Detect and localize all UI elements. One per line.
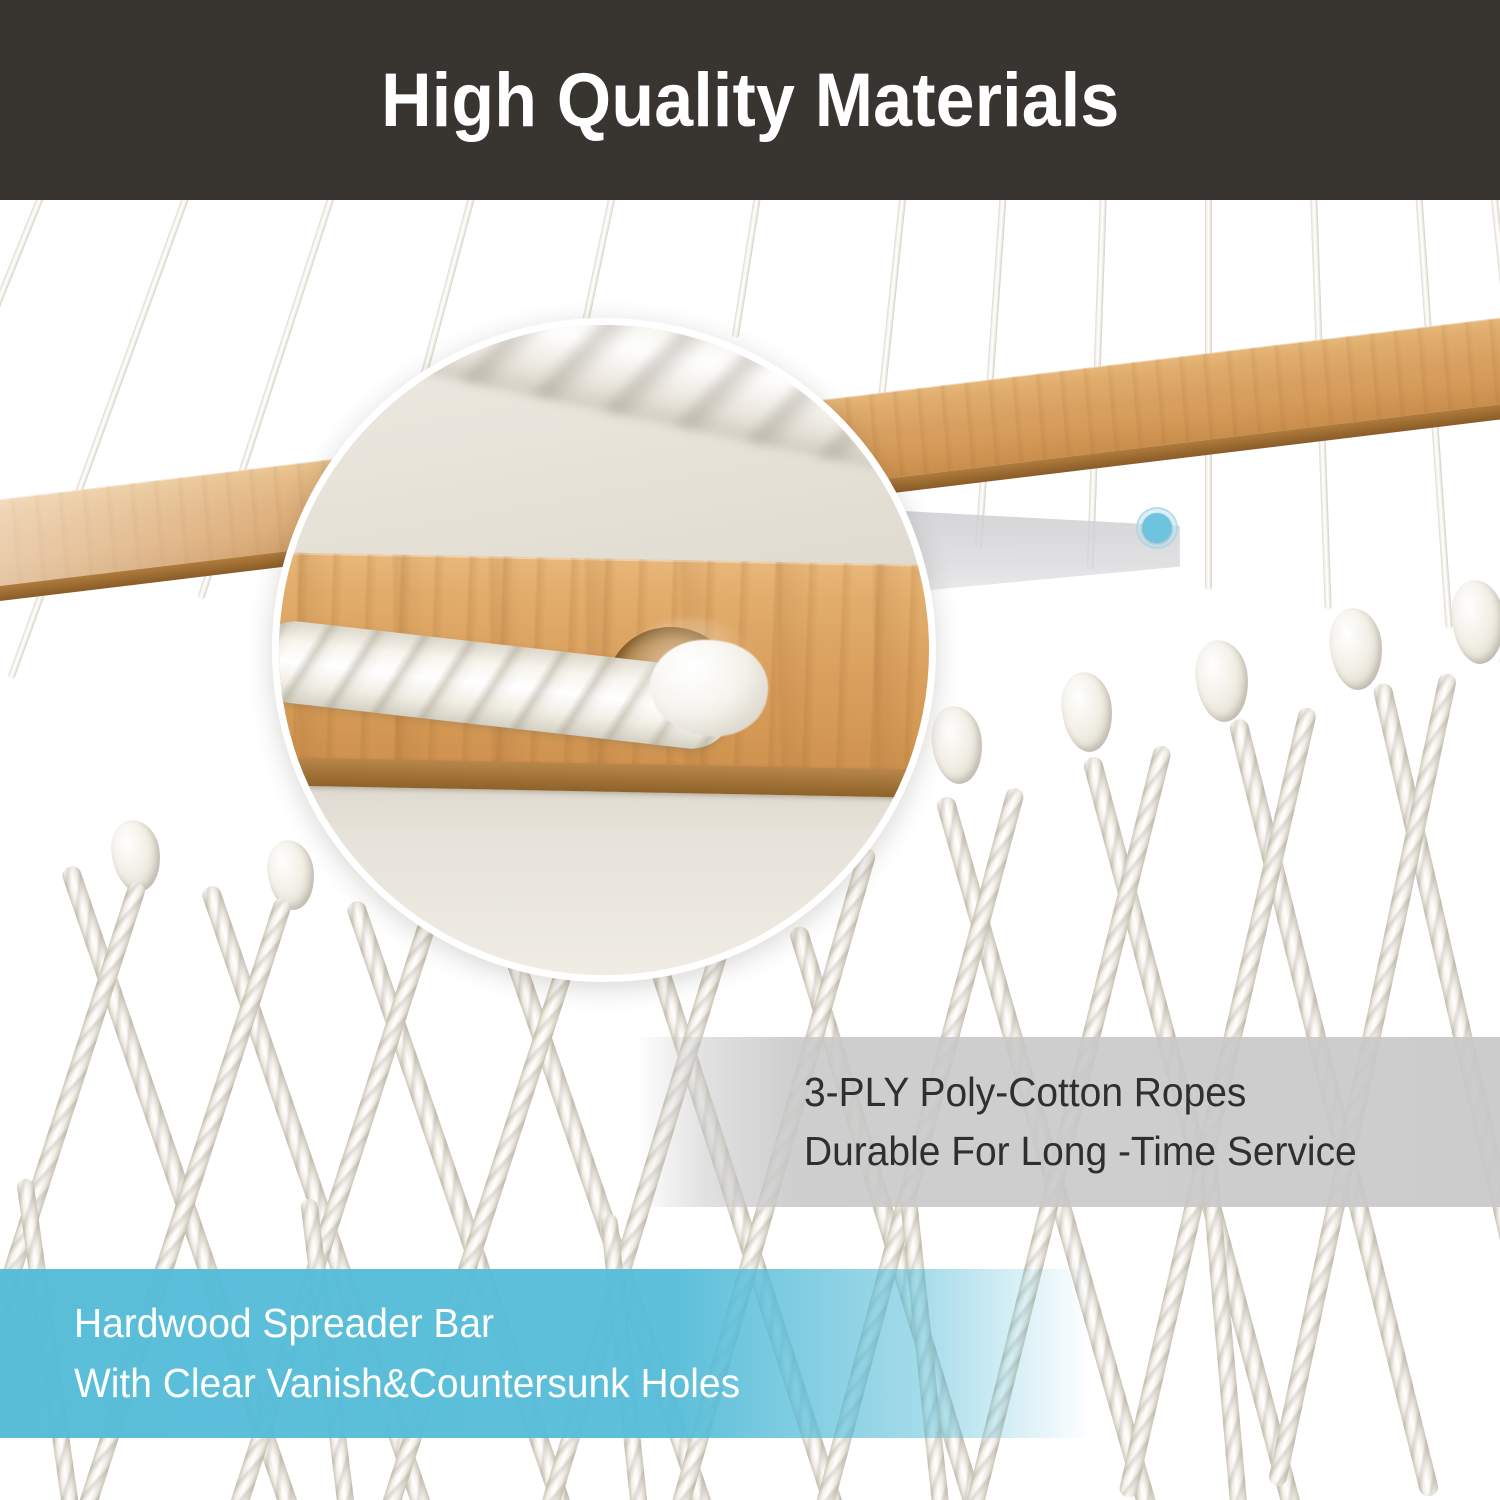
magnifier-background-bottom (279, 780, 929, 975)
rope-callout-line-1: 3-PLY Poly-Cotton Ropes (804, 1063, 1465, 1122)
rope-knot (1193, 638, 1252, 724)
rope-knot (1449, 578, 1500, 665)
rope-knot (1059, 670, 1116, 754)
rope-callout: 3-PLY Poly-Cotton Ropes Durable For Long… (636, 1037, 1500, 1207)
magnifier-rope-fuzz (617, 618, 767, 738)
header-banner: High Quality Materials (0, 0, 1500, 200)
rope-knot (1327, 606, 1385, 691)
detail-magnifier-circle (272, 318, 936, 982)
suspension-rope (732, 189, 762, 338)
magnifier-target-dot-icon (1142, 513, 1172, 543)
product-feature-image: High Quality Materials 3-PLY Poly-Cotton… (0, 0, 1500, 1500)
spreader-bar-callout-line-2: With Clear Vanish&Countersunk Holes (74, 1354, 1039, 1413)
spreader-bar-callout-line-1: Hardwood Spreader Bar (74, 1294, 1039, 1353)
page-title: High Quality Materials (381, 57, 1119, 144)
rope-knot (929, 704, 986, 786)
spreader-bar-callout: Hardwood Spreader Bar With Clear Vanish&… (0, 1269, 1090, 1438)
rope-callout-line-2: Durable For Long -Time Service (804, 1122, 1465, 1181)
